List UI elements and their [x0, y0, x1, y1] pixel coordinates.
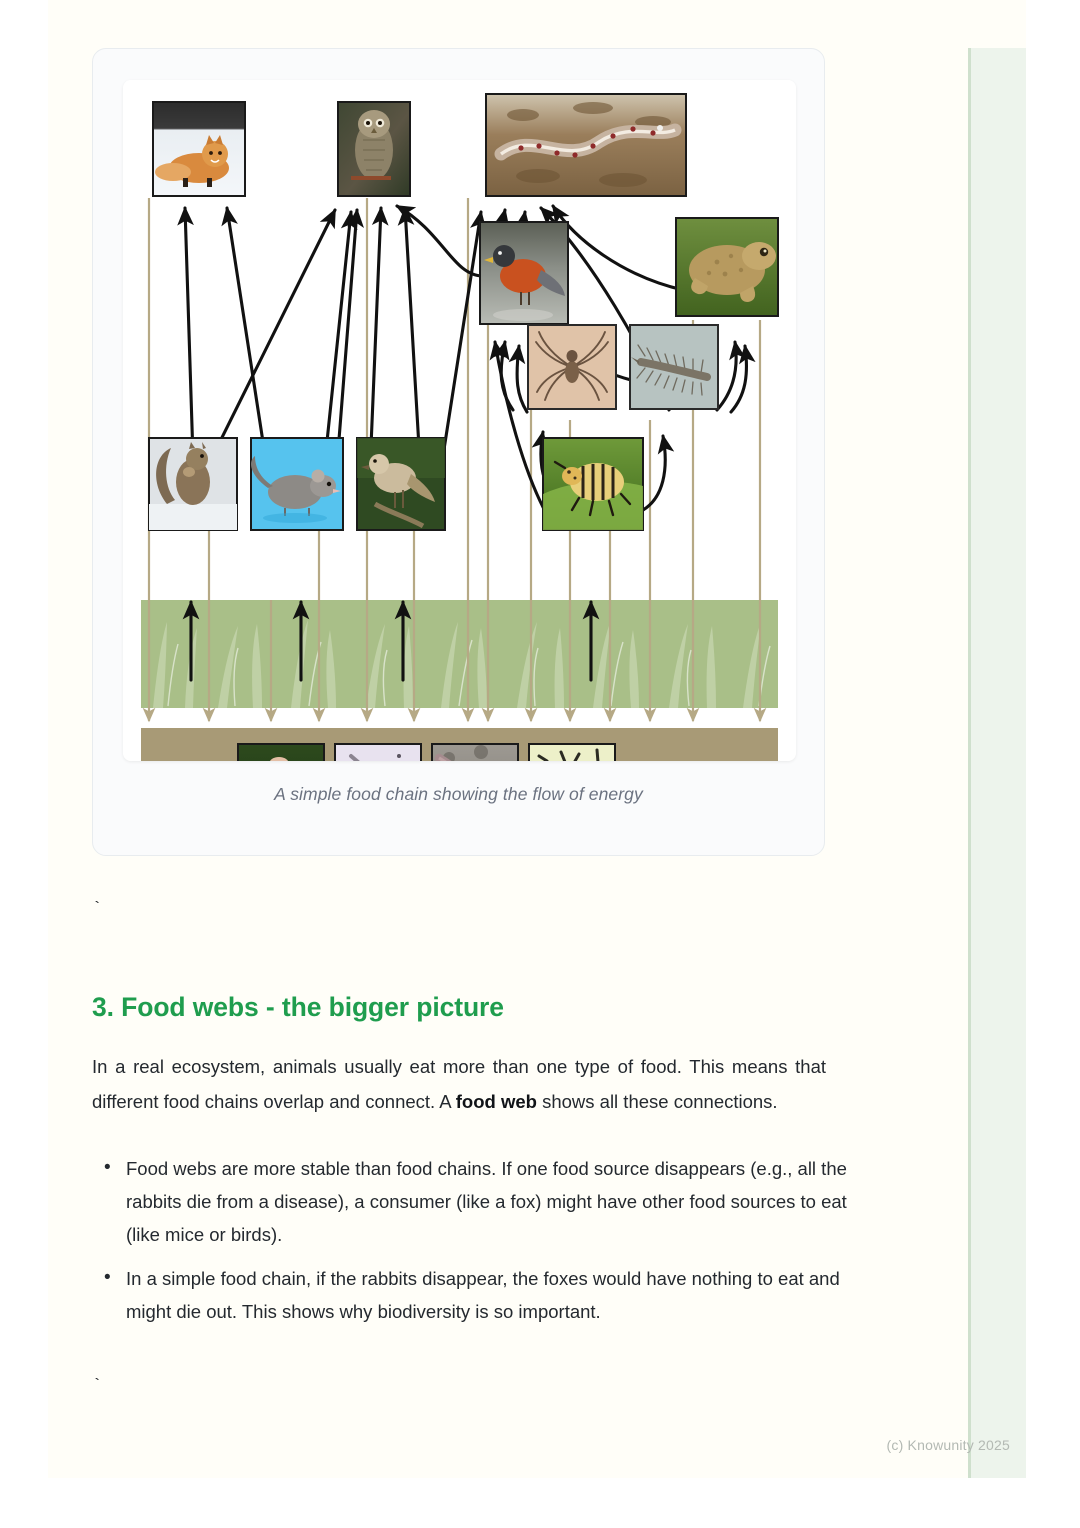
list-item: In a simple food chain, if the rabbits d…	[126, 1262, 860, 1328]
footer-watermark: (c) Knowunity 2025	[887, 1437, 1010, 1453]
organism-mouse	[251, 438, 343, 530]
backtick-mark-1: `	[92, 900, 102, 919]
key-points-list: Food webs are more stable than food chai…	[92, 1152, 860, 1339]
organism-red-fox	[153, 102, 245, 196]
section-heading: 3. Food webs - the bigger picture	[92, 992, 504, 1023]
page-sheet: A simple food chain showing the flow of …	[48, 0, 1026, 1478]
organism-squirrel	[149, 438, 237, 530]
right-accent-panel	[968, 48, 1026, 1478]
backtick-mark-2: `	[92, 1377, 102, 1396]
organism-garter-snake	[486, 94, 686, 196]
food-web-bold-term: food web	[456, 1091, 537, 1112]
grass-layer	[141, 600, 778, 708]
organism-colorado-potato-beetle	[543, 438, 643, 530]
food-web-svg	[123, 80, 796, 761]
organism-fungal-hyphae	[335, 744, 421, 761]
intro-paragraph: In a real ecosystem, animals usually eat…	[92, 1049, 826, 1119]
organism-bacteria	[529, 744, 615, 761]
organism-spider	[528, 325, 616, 409]
organism-toad	[676, 218, 778, 316]
list-item: Food webs are more stable than food chai…	[126, 1152, 860, 1251]
organism-centipede	[630, 325, 718, 409]
organism-mushrooms	[238, 744, 324, 761]
figure-card: A simple food chain showing the flow of …	[92, 48, 825, 856]
organism-sparrow	[357, 438, 445, 530]
organism-earthworm	[432, 744, 518, 761]
food-web-diagram	[123, 80, 796, 761]
intro-text-part-2: shows all these connections.	[537, 1091, 778, 1112]
organism-owl	[338, 102, 410, 196]
figure-caption: A simple food chain showing the flow of …	[93, 784, 824, 805]
organism-american-robin	[480, 222, 568, 324]
